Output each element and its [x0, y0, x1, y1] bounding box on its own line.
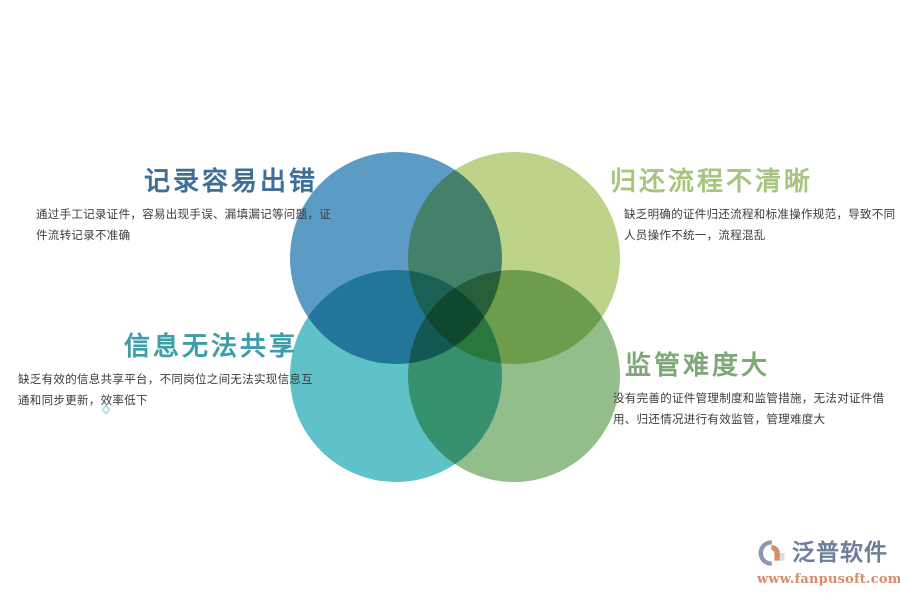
fanpu-logo-mark-icon [757, 538, 787, 568]
logo-row: 泛普软件 [757, 538, 897, 568]
brand-logo[interactable]: 泛普软件 www.fanpusoft.com [757, 538, 897, 592]
quadrant-title-top-right: 归还流程不清晰 [610, 168, 900, 197]
quadrant-title-top-left: 记录容易出错 [36, 168, 336, 197]
quadrant-text-bottom-left: 信息无法共享 缺乏有效的信息共享平台，不同岗位之间无法实现信息互通和同步更新，效… [18, 333, 318, 412]
quadrant-body-bottom-left: 缺乏有效的信息共享平台，不同岗位之间无法实现信息互通和同步更新，效率低下 [18, 370, 318, 413]
quadrant-title-bottom-right: 监管难度大 [613, 352, 893, 381]
quadrant-text-top-right: 归还流程不清晰 缺乏明确的证件归还流程和标准操作规范，导致不同人员操作不统一，流… [610, 168, 900, 247]
quadrant-text-bottom-right: 监管难度大 没有完善的证件管理制度和监管措施，无法对证件借用、归还情况进行有效监… [613, 352, 893, 431]
logo-wordmark: 泛普软件 [792, 542, 888, 565]
slide-canvas: 记录容易出错 通过手工记录证件，容易出现手误、漏填漏记等问题，证件流转记录不准确… [0, 0, 900, 600]
quadrant-title-bottom-left: 信息无法共享 [18, 333, 318, 362]
quadrant-body-top-right: 缺乏明确的证件归还流程和标准操作规范，导致不同人员操作不统一，流程混乱 [610, 205, 900, 248]
quadrant-body-top-left: 通过手工记录证件，容易出现手误、漏填漏记等问题，证件流转记录不准确 [36, 205, 336, 248]
quadrant-text-top-left: 记录容易出错 通过手工记录证件，容易出现手误、漏填漏记等问题，证件流转记录不准确 [36, 168, 336, 247]
logo-url: www.fanpusoft.com [757, 572, 897, 587]
quadrant-body-bottom-right: 没有完善的证件管理制度和监管措施，无法对证件借用、归还情况进行有效监管，管理难度… [613, 389, 893, 432]
venn-diagram [290, 152, 620, 482]
venn-circle-bottom-right[interactable] [408, 270, 620, 482]
